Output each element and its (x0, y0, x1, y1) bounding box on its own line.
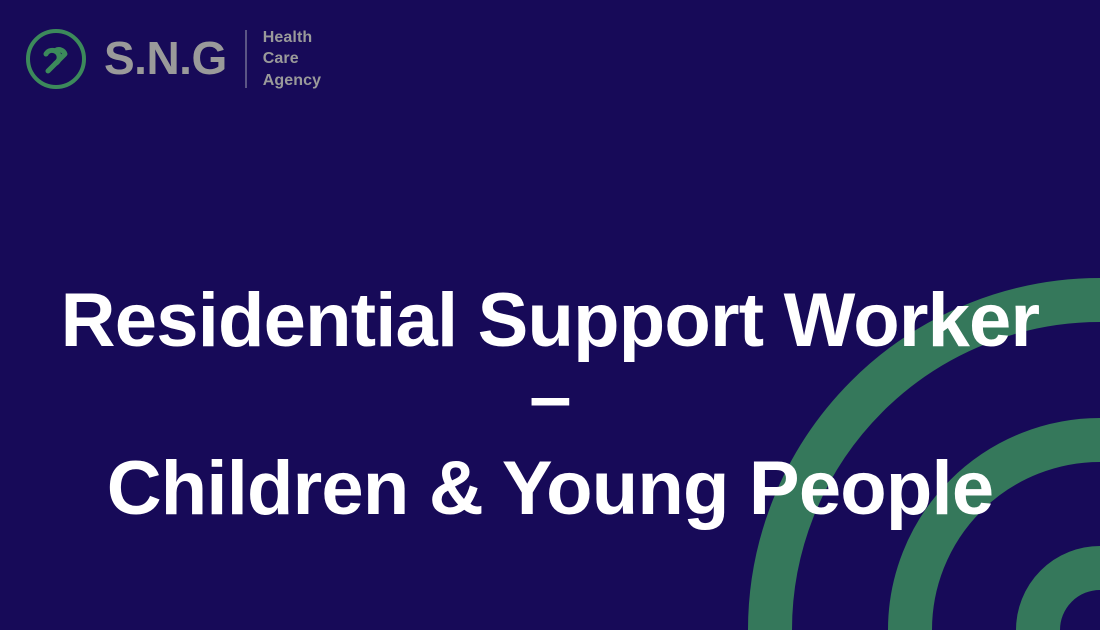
job-banner: S.N.G Health Care Agency Residential Sup… (0, 0, 1100, 630)
page-title-line-1: Residential Support Worker – (40, 283, 1060, 435)
page-title: Residential Support Worker – Children & … (0, 283, 1100, 527)
logo-subword-agency: Agency (263, 72, 321, 89)
page-title-line-2: Children & Young People (40, 451, 1060, 527)
logo-subwords: Health Care Agency (263, 27, 321, 90)
sng-heart-circle-logo-icon (24, 27, 88, 91)
logo-subword-care: Care (263, 50, 299, 67)
logo-lockup[interactable]: S.N.G Health Care Agency (24, 24, 321, 94)
logo-divider (245, 30, 247, 88)
logo-subword-health: Health (263, 29, 313, 46)
logo-wordmark: S.N.G (104, 35, 227, 83)
ring-inner-swoosh (1038, 568, 1100, 630)
